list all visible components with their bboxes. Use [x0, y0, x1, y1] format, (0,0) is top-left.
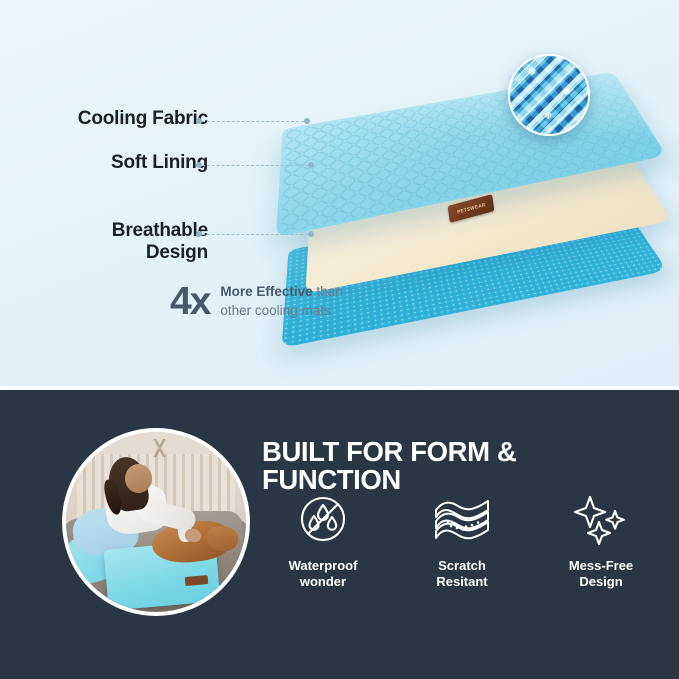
feature-mess-free: Mess-Free Design — [540, 488, 662, 590]
waterproof-droplet-icon — [297, 488, 349, 550]
leader-dash — [202, 234, 308, 235]
lifestyle-photo — [62, 428, 250, 616]
feature-list: Waterproof wonder — [262, 488, 662, 590]
leader-line-soft-lining — [196, 159, 314, 171]
leader-dash — [202, 165, 308, 166]
snowflake-icon: ❄ — [544, 112, 552, 122]
effectiveness-claim: 4x More Effective than other cooling mat… — [170, 282, 343, 321]
feature-caption: Waterproof wonder — [289, 558, 358, 590]
leader-dot-icon — [304, 118, 310, 124]
leader-dot-icon — [308, 162, 314, 168]
callout-label: Cooling Fabric — [78, 108, 208, 130]
fabric-macro-inset: ❄ ❄ ❄ — [508, 54, 590, 136]
sparkle-stars-icon — [573, 488, 629, 550]
claim-multiplier: 4x — [170, 282, 209, 321]
snowflake-icon: ❄ — [562, 88, 570, 98]
section-heading: BUILT FOR FORM & FUNCTION — [262, 438, 662, 493]
feature-caption: Scratch Resitant — [436, 558, 487, 590]
feature-scratch-resistant: Scratch Resitant — [401, 488, 523, 590]
product-infographic: PETSWEAR ❄ ❄ ❄ Cooling Fabric Soft Linin… — [0, 0, 679, 679]
claim-emphasis: More Effective — [220, 284, 312, 299]
leader-line-cooling-fabric — [196, 115, 310, 127]
leader-line-breathable-design — [196, 228, 314, 240]
leader-dash — [202, 121, 304, 122]
callout-label: Breathable Design — [112, 220, 208, 265]
callout-soft-lining: Soft Lining — [40, 152, 208, 174]
callout-cooling-fabric: Cooling Fabric — [40, 108, 208, 130]
snowflake-icon: ❄ — [528, 68, 536, 78]
bottom-feature-panel: BUILT FOR FORM & FUNCTION Waterproof won… — [0, 390, 679, 679]
leader-dot-icon — [308, 231, 314, 237]
claim-text: More Effective than other cooling mats — [220, 283, 342, 320]
brand-tag-label: PETSWEAR — [456, 202, 485, 215]
photo-branch-decor — [120, 439, 203, 457]
callout-label: Soft Lining — [111, 152, 208, 174]
feature-caption: Mess-Free Design — [569, 558, 633, 590]
callout-breathable-design: Breathable Design — [40, 220, 208, 265]
scratch-wave-icon — [432, 488, 492, 550]
top-feature-panel: PETSWEAR ❄ ❄ ❄ Cooling Fabric Soft Linin… — [0, 0, 679, 386]
feature-waterproof: Waterproof wonder — [262, 488, 384, 590]
